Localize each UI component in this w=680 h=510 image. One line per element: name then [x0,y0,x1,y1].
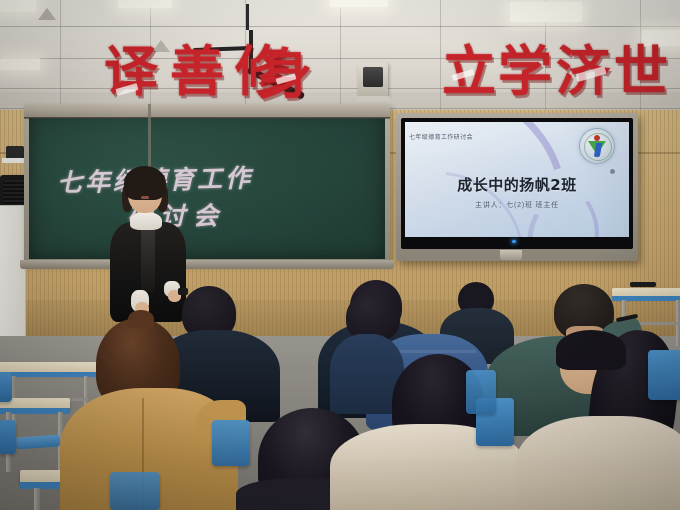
presenter-mouth [141,196,149,199]
presenter-lapel [141,226,155,292]
screen-subtitle: 主讲人：七(2)班 班主任 [405,200,629,210]
ceiling-light [330,0,388,7]
banner-char-right-4: 世 [614,44,668,98]
woman-hair-tuft [128,310,154,328]
chair [0,372,12,402]
power-led-indicator [512,240,516,243]
ceiling-light [118,0,172,8]
wall-device-screen [363,67,383,87]
screen-sensor-icon [610,169,615,174]
chair [466,370,496,414]
chalk-tray [20,260,394,269]
camera-rig-pole [246,4,249,30]
desk-object [630,282,656,287]
banner-char-left-4: 身 [258,47,312,101]
blackboard-rail [24,117,390,119]
presenter-turtleneck [130,212,162,230]
banner-char-left-2: 善 [170,44,224,98]
ceiling-light [0,0,36,12]
chair [648,350,680,400]
sprinkler-icon [38,8,56,20]
wall-device-base [356,96,390,102]
school-emblem-icon [579,128,615,164]
desk-leg [34,488,40,510]
chair [0,420,16,454]
screen-corner-label: 七年级德育工作研讨会 [409,132,473,141]
blackboard: 七年级德育工作 研讨会 [29,109,385,259]
smart-display-screen[interactable]: 七年级德育工作研讨会 成长中的扬帆2班 主讲人：七(2)班 班主任 [405,122,629,237]
display-wall-bracket [500,250,522,260]
presenter-remote [178,288,188,295]
woman-sweater [516,416,680,510]
chair [212,420,250,466]
ceiling-light [510,2,582,22]
ceiling-light [0,58,40,70]
blackboard-track [24,104,390,118]
presenter-hair [124,166,166,200]
chair [110,472,160,510]
banner-char-right-2: 学 [498,44,552,98]
screen-title: 成长中的扬帆2班 [405,174,629,195]
classroom-photo: 译 善 修 身 立 学 济 世 七年级德育工作 研讨会 七年级德育工作研讨会 成… [0,0,680,510]
woman-hairtop [556,330,626,370]
left-wall-cabinet [0,205,26,347]
